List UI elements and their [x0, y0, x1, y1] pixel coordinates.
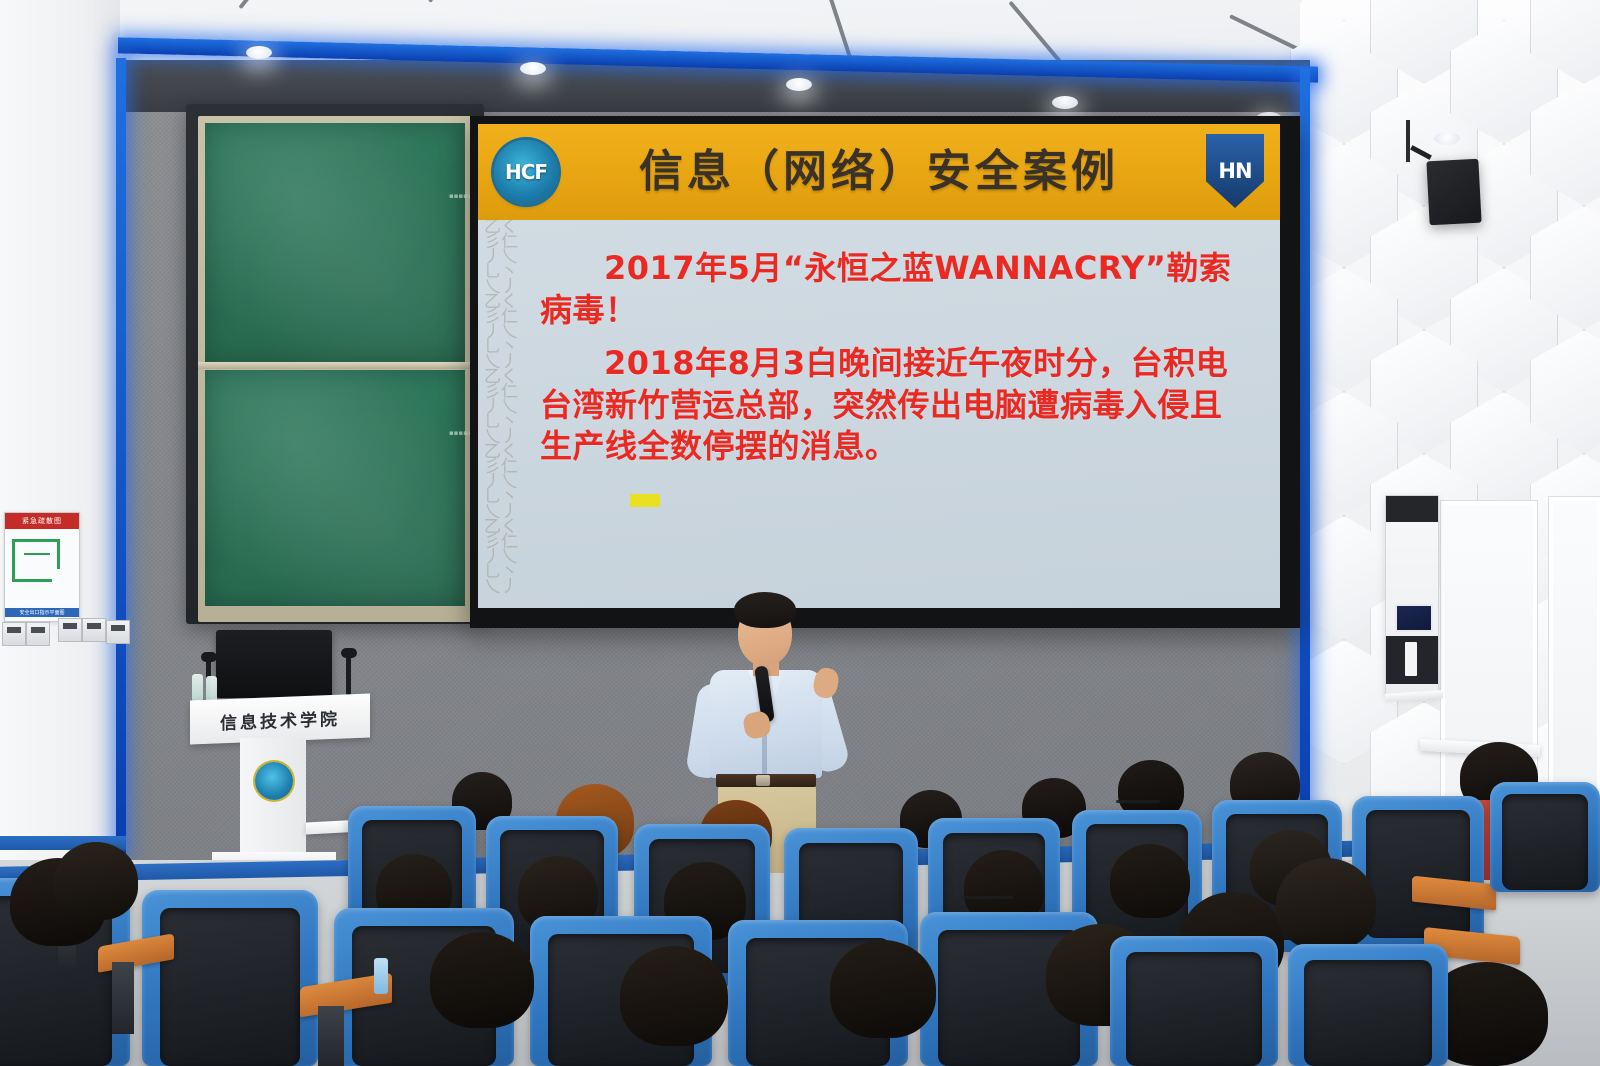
- slide-header: HCF 信息（网络）安全案例 HN: [478, 124, 1280, 220]
- audience-head: [620, 946, 728, 1046]
- ceiling-spotlight: [520, 62, 546, 75]
- led-strip-vertical: [1300, 68, 1310, 858]
- circuit-breaker[interactable]: [106, 620, 130, 644]
- circuit-breaker[interactable]: [82, 618, 106, 642]
- school-emblem-icon: [255, 762, 293, 800]
- slide-decoration-border: 乙く彡仁丿乀乚丶乀丿乙く彡仁丿乀乚丶乀丿乙く彡仁丿乀乚丶乀丿乙く彡仁丿乀乚丶乀丿…: [484, 220, 520, 608]
- hcf-logo-icon: HCF: [494, 140, 558, 204]
- audience-head: [430, 932, 534, 1028]
- drink-carton: [374, 958, 388, 994]
- hcf-logo-text: HCF: [505, 160, 547, 184]
- audience-head: [830, 940, 936, 1038]
- wall-speaker: [1426, 159, 1481, 226]
- presenter-hair: [734, 592, 796, 628]
- podium-label: 信息技术学院: [190, 697, 370, 742]
- ceiling-spotlight: [1052, 96, 1078, 109]
- panel-touchscreen[interactable]: [1395, 604, 1433, 632]
- chalkboard-rail: [198, 362, 472, 369]
- left-wall: [0, 0, 120, 880]
- presenter-belt-buckle: [756, 775, 770, 786]
- seat-armrest-post: [112, 962, 134, 1034]
- circuit-breaker[interactable]: [26, 622, 50, 646]
- circuit-breaker[interactable]: [2, 622, 26, 646]
- microphone-head-icon: [201, 652, 217, 662]
- hn-shield-icon: HN: [1206, 134, 1264, 208]
- evacuation-map-plan: [10, 535, 74, 595]
- speaker-mount-pole: [1406, 120, 1410, 162]
- panel-top-bar: [1386, 496, 1438, 522]
- panel-device: [1405, 642, 1417, 676]
- av-control-panel[interactable]: [1385, 495, 1439, 697]
- lecture-hall-photo: ▪▪▪▪▪▪▪▪▪▪ ▪▪▪▪▪▪▪▪ HCF 信息（网络）安全案例 HN 乙く…: [0, 0, 1600, 1066]
- led-strip-vertical: [116, 58, 126, 858]
- podium-monitor[interactable]: [216, 630, 332, 698]
- evacuation-map-title: 紧急疏散图: [5, 513, 79, 529]
- audience-head: [1110, 844, 1190, 918]
- slide-title: 信息（网络）安全案例: [478, 150, 1280, 194]
- hn-shield-text: HN: [1218, 159, 1251, 183]
- chalkboard-panel-top: ▪▪▪▪▪▪▪▪▪▪: [205, 123, 465, 363]
- circuit-breaker[interactable]: [58, 618, 82, 642]
- evacuation-map-footer: 安全出口指示平面图: [5, 608, 79, 617]
- water-bottle: [192, 674, 203, 702]
- slide-highlight-marker: [630, 494, 660, 507]
- audience-head: [1276, 858, 1376, 950]
- audience-glasses: [962, 896, 1014, 899]
- audience-head: [54, 842, 138, 920]
- slide-body: 2017年5月“永恒之蓝WANNACRY”勒索病毒！ 2018年8月3白晚间接近…: [540, 248, 1240, 480]
- microphone-head-icon: [341, 648, 357, 658]
- slide-line-2: 2018年8月3白晚间接近午夜时分，台积电台湾新竹营运总部，突然传出电脑遭病毒入…: [540, 343, 1240, 468]
- ceiling-spotlight: [246, 46, 272, 59]
- presentation-slide[interactable]: HCF 信息（网络）安全案例 HN 乙く彡仁丿乀乚丶乀丿乙く彡仁丿乀乚丶乀丿乙く…: [478, 124, 1280, 608]
- evacuation-map: 紧急疏散图 安全出口指示平面图: [4, 512, 80, 622]
- slide-line-1: 2017年5月“永恒之蓝WANNACRY”勒索病毒！: [540, 248, 1240, 331]
- seat-armrest-post: [318, 1006, 344, 1066]
- ceiling-spotlight: [1434, 132, 1460, 145]
- chalkboard-panel-bottom: ▪▪▪▪▪▪▪▪: [205, 370, 465, 606]
- audience-glasses: [1116, 800, 1160, 803]
- ceiling-spotlight: [786, 78, 812, 91]
